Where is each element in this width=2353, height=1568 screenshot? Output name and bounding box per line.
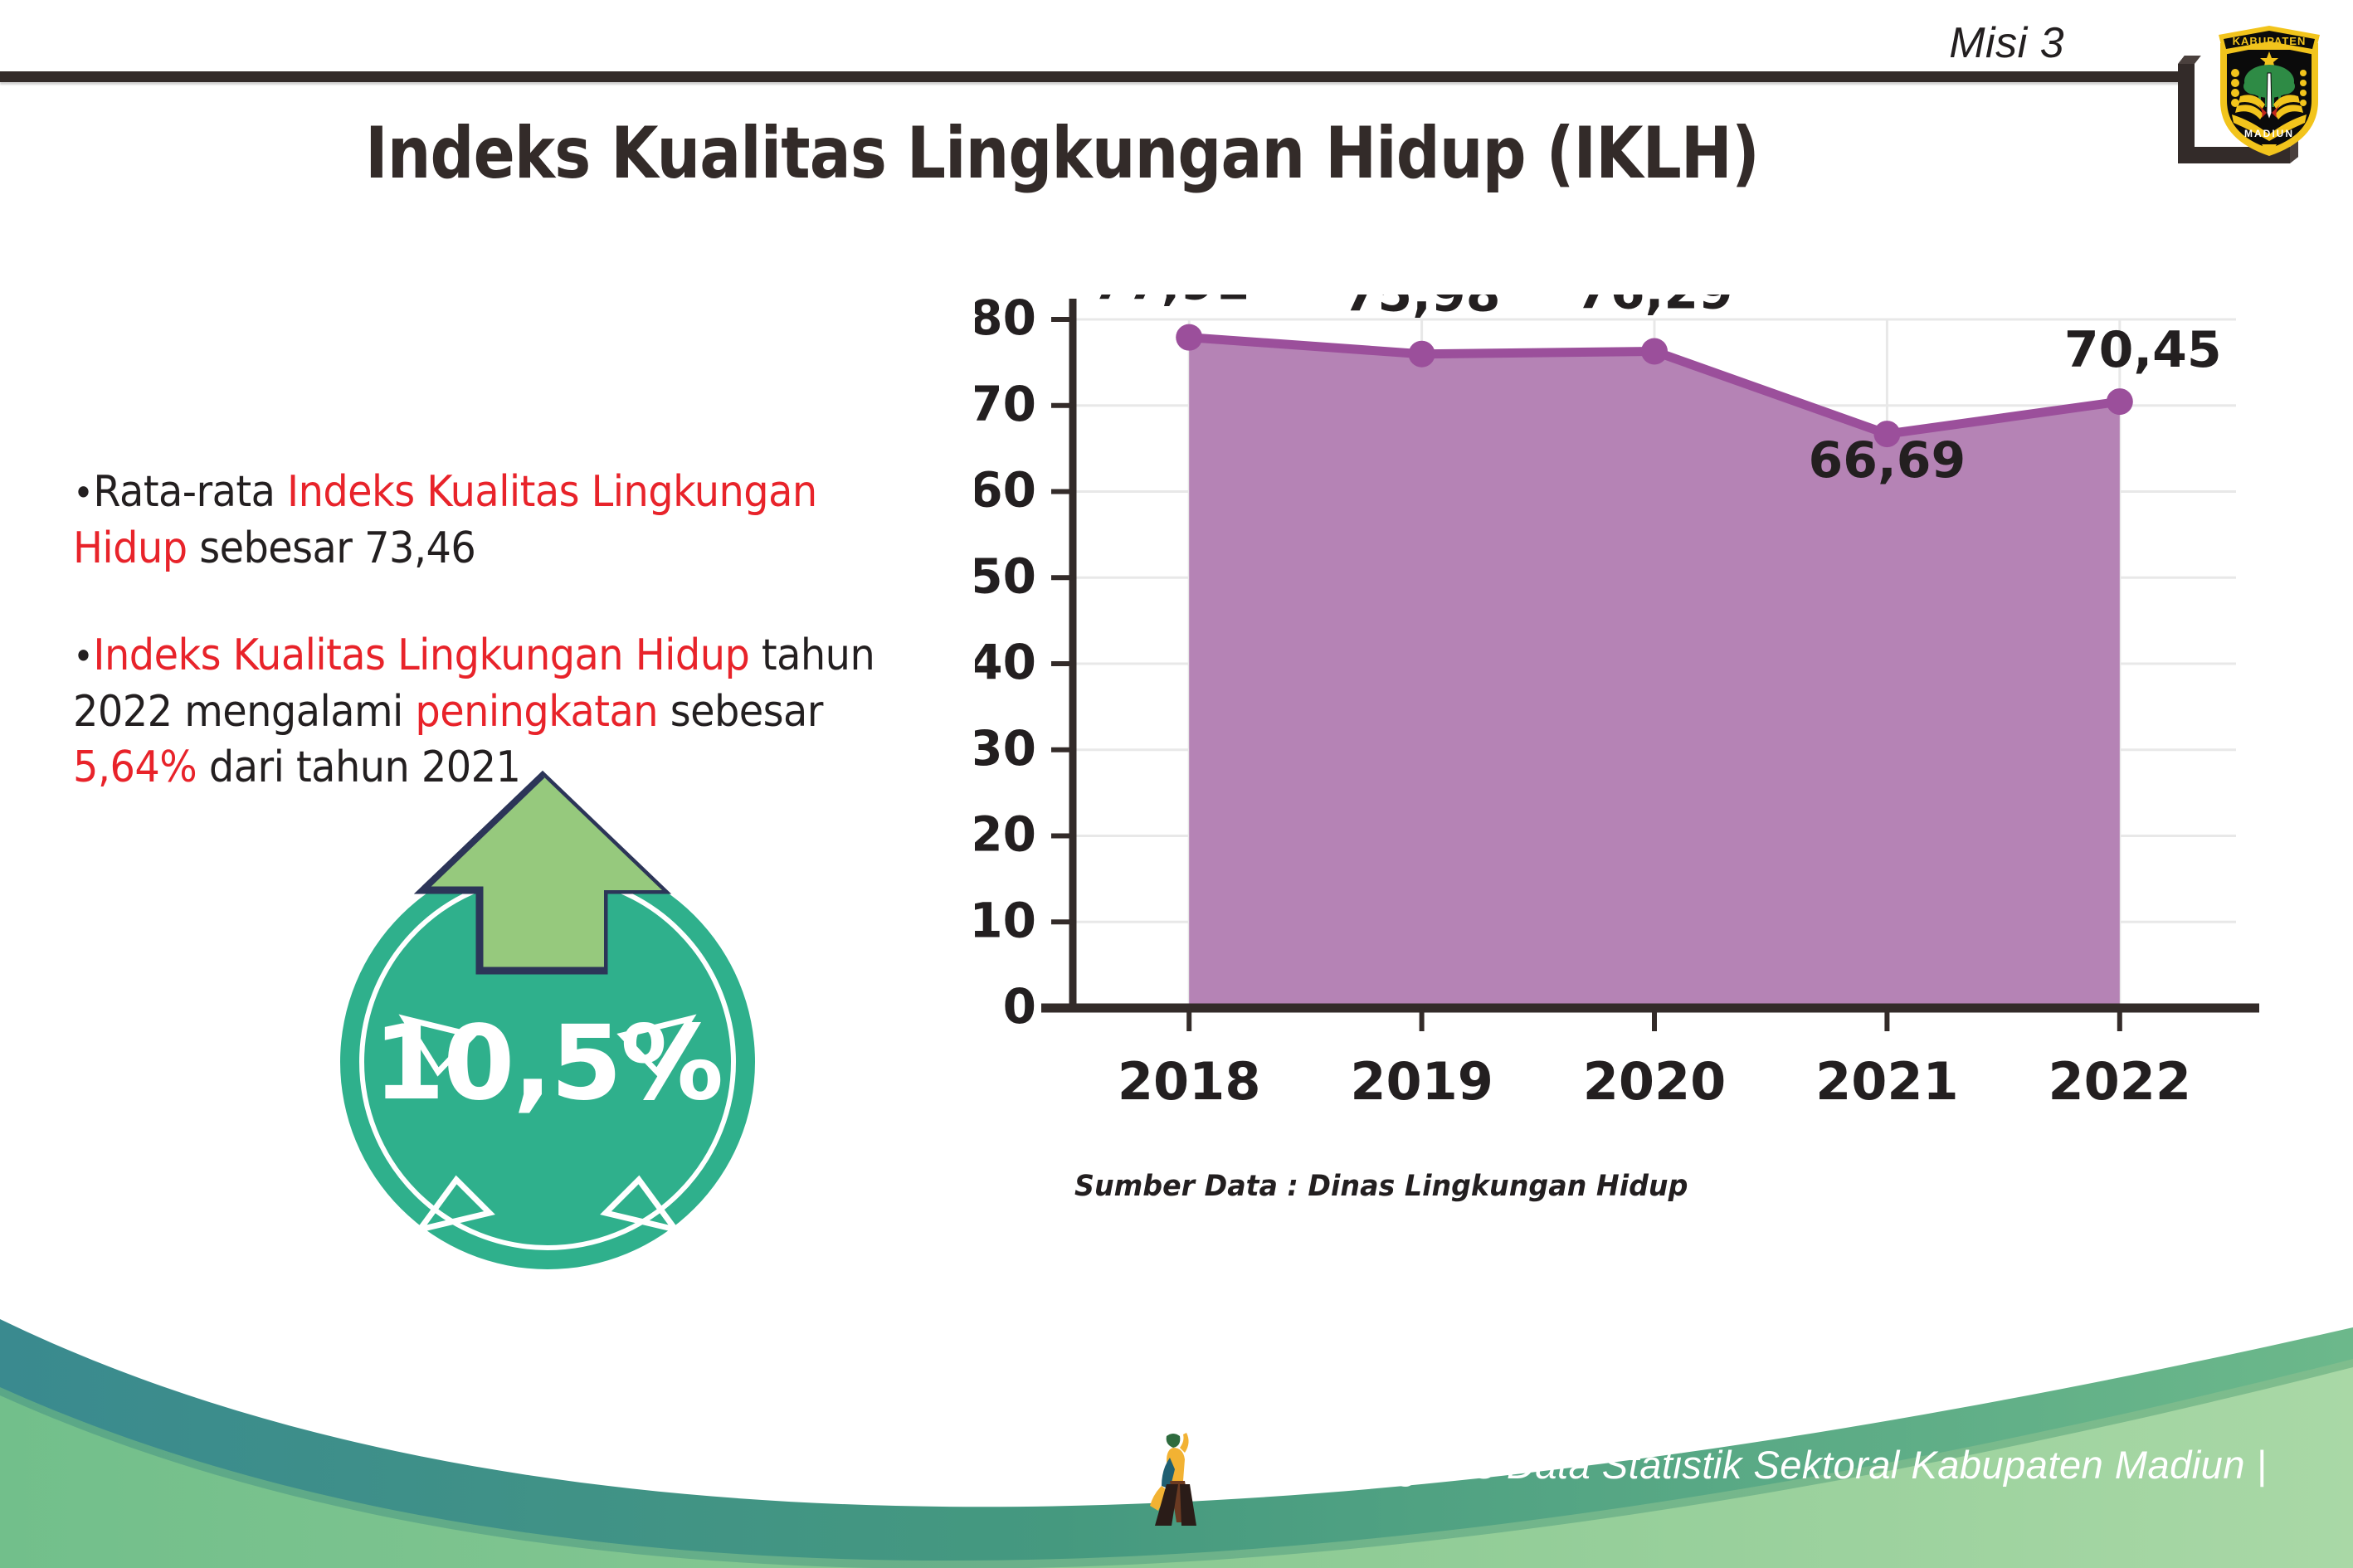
chart-area-fill (1189, 338, 2120, 1008)
infographic-slide: Misi 3 KABUPATEN MADIUN (0, 0, 2353, 1568)
svg-text:60: 60 (975, 462, 1036, 519)
bullet-item-average: •Rata-rata Indeks Kualitas Lingkungan Hi… (73, 465, 920, 577)
badge-percentage: 10,5% (340, 1004, 755, 1123)
svg-text:70: 70 (975, 376, 1036, 432)
svg-text:2018: 2018 (1118, 1051, 1261, 1112)
misi-label: Misi 3 (1949, 18, 2064, 68)
page-title: Indeks Kualitas Lingkungan Hidup (IKLH) (149, 112, 1975, 195)
kabupaten-madiun-emblem-icon: KABUPATEN MADIUN (2207, 15, 2331, 160)
bullet-segment-highlight: 5,64% (73, 743, 197, 792)
y-axis-tick-labels: 01020304050607080 (975, 295, 1036, 1035)
svg-text:66,69: 66,69 (1809, 431, 1966, 489)
x-axis-tick-labels: 20182019202020212022 (1118, 1051, 2191, 1112)
svg-text:2021: 2021 (1815, 1051, 1959, 1112)
bullet-segment: sebesar 73,46 (188, 523, 476, 573)
iklh-area-chart: 01020304050607080 20182019202020212022 7… (975, 295, 2269, 1224)
header-rule (0, 71, 2182, 82)
chart-canvas: 01020304050607080 20182019202020212022 7… (975, 295, 2269, 1157)
bullet-segment: sebesar (658, 687, 823, 737)
bullet-marker: • (73, 470, 93, 515)
bullet-list: •Rata-rata Indeks Kualitas Lingkungan Hi… (73, 465, 994, 796)
bullet-segment-highlight: Indeks Kualitas Lingkungan Hidup (93, 631, 749, 680)
source-note: Sumber Data : Dinas Lingkungan Hidup (1074, 1170, 1688, 1203)
svg-text:80: 80 (975, 295, 1036, 346)
up-arrow-icon (330, 751, 753, 1199)
bullet-marker: • (73, 634, 93, 679)
svg-text:2019: 2019 (1350, 1051, 1493, 1112)
svg-text:40: 40 (975, 634, 1036, 690)
bullet-segment-highlight: peningkatan (415, 687, 658, 737)
svg-text:10: 10 (975, 892, 1036, 948)
svg-text:0: 0 (1003, 978, 1036, 1035)
footer-caption: Media Infografis Data Statistik Sektoral… (1211, 1442, 2267, 1488)
svg-text:20: 20 (975, 806, 1036, 863)
svg-text:76,29: 76,29 (1576, 295, 1733, 320)
svg-text:2022: 2022 (2049, 1051, 2192, 1112)
svg-text:30: 30 (975, 720, 1036, 777)
svg-text:KABUPATEN: KABUPATEN (2233, 35, 2307, 47)
dancer-logo-icon (1137, 1423, 1220, 1539)
bullet-segment: Rata-rata (93, 467, 287, 517)
svg-text:MADIUN: MADIUN (2244, 128, 2294, 139)
increase-badge: 10,5% (330, 751, 753, 1199)
svg-text:50: 50 (975, 548, 1036, 604)
svg-text:2020: 2020 (1583, 1051, 1727, 1112)
svg-text:75,98: 75,98 (1343, 295, 1501, 324)
svg-text:70,45: 70,45 (2064, 321, 2222, 379)
svg-text:77,91: 77,91 (1092, 295, 1250, 312)
